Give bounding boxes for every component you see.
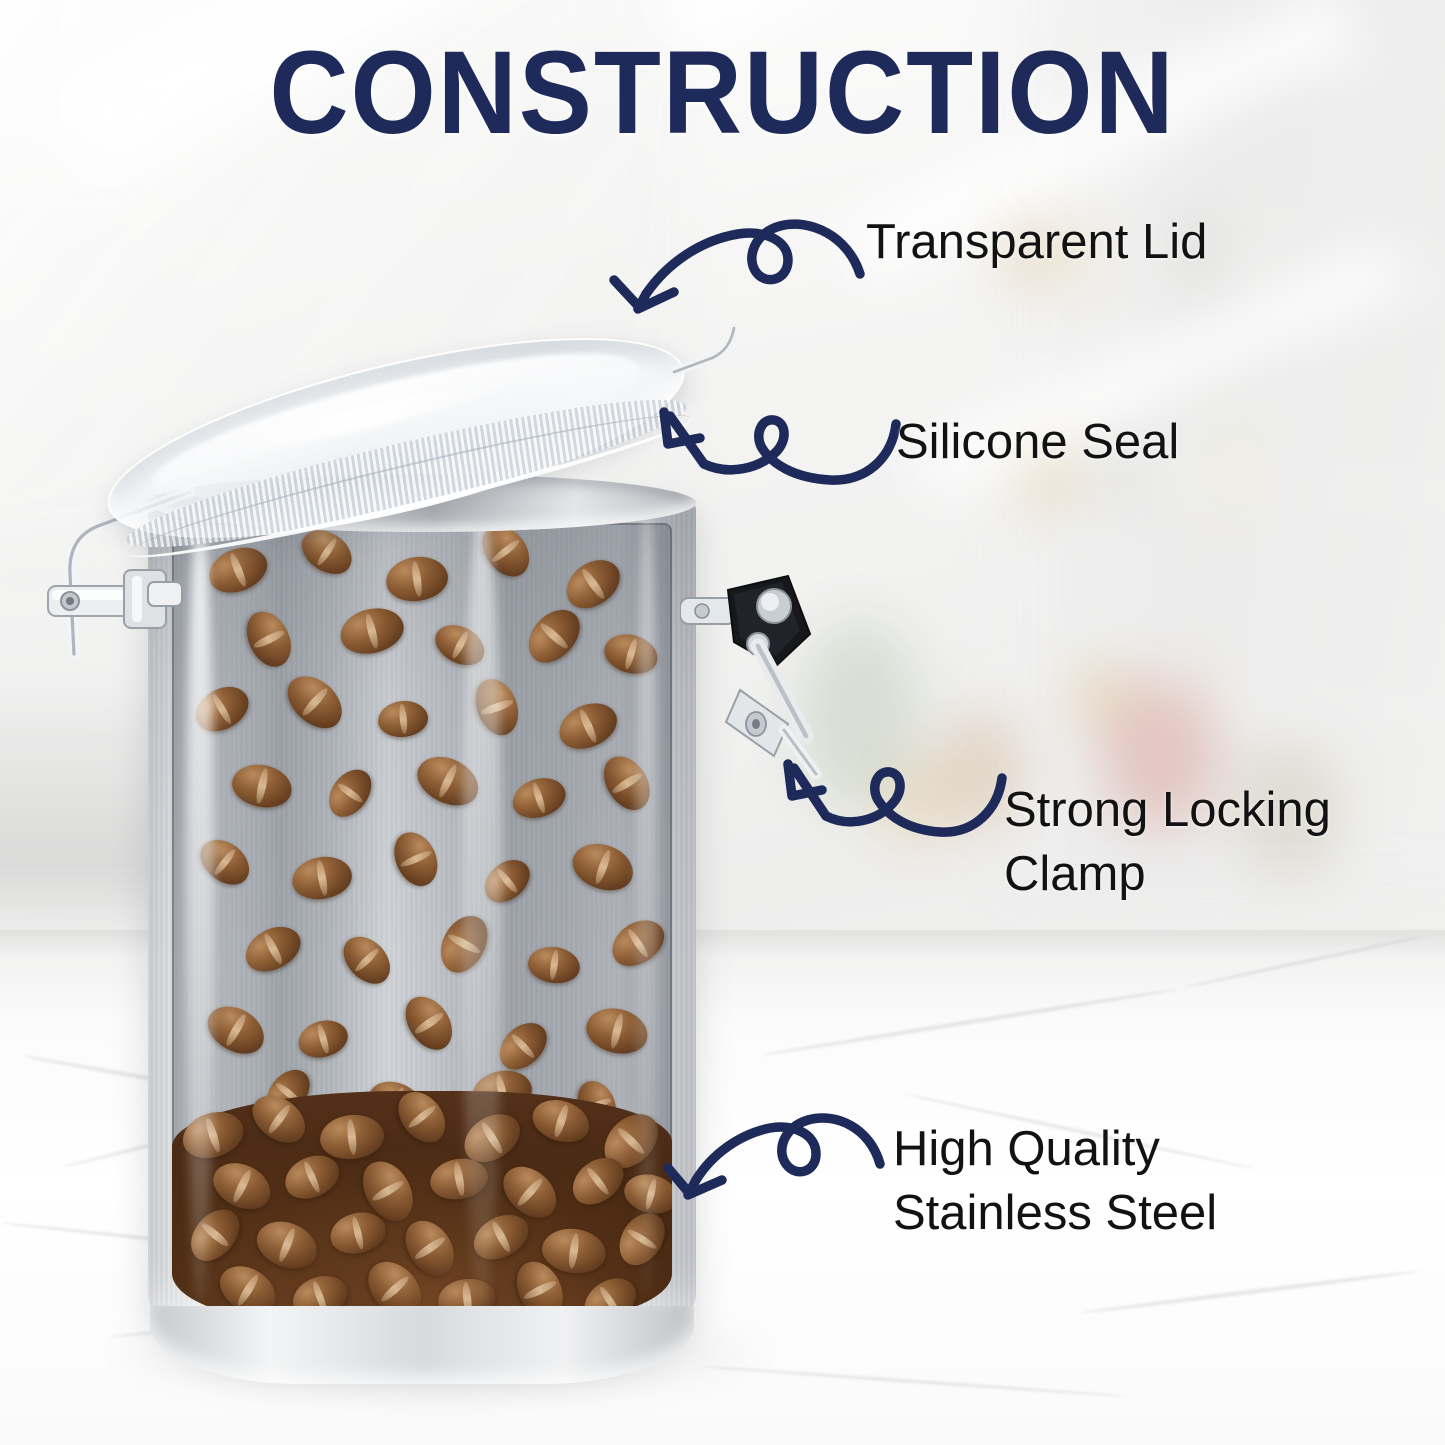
coffee-bean: [518, 600, 589, 673]
coffee-bean: [507, 772, 570, 825]
coffee-bean: [566, 836, 639, 899]
coffee-bean: [320, 761, 380, 824]
coffee-bean: [383, 553, 451, 605]
curved-arrow-down-left-icon: [656, 1106, 888, 1206]
coffee-bean: [389, 1083, 455, 1152]
coffee-bean: [278, 666, 352, 739]
coffee-bean: [376, 698, 429, 739]
coffee-bean: [238, 918, 308, 981]
coffee-bean: [294, 1015, 352, 1063]
curved-arrow-down-left-icon: [598, 212, 868, 324]
infographic-canvas: CONSTRUCTION Transparent Lid Silicone Se…: [0, 0, 1445, 1445]
callout-label-transparent-lid: Transparent Lid: [866, 211, 1207, 275]
page-title: CONSTRUCTION: [51, 34, 1395, 152]
coffee-bean: [228, 759, 295, 813]
coffee-bean: [289, 852, 355, 904]
canister-base: [150, 1306, 694, 1384]
coffee-bean: [335, 927, 400, 992]
stainless-steel-body: [148, 497, 696, 1352]
body-highlight: [462, 506, 502, 1306]
callout-label-silicone-seal: Silicone Seal: [896, 411, 1179, 475]
body-highlight: [636, 506, 658, 1296]
canister-view-window: [172, 523, 672, 1323]
coffee-bean: [318, 1112, 386, 1162]
curved-arrow-up-left-icon: [778, 752, 1008, 848]
coffee-bean: [238, 604, 299, 674]
callout-label-locking-clamp: Strong Locking Clamp: [1004, 779, 1331, 906]
coffee-bean: [250, 1213, 324, 1277]
coffee-bean-pile: [172, 1091, 672, 1323]
coffee-bean: [526, 944, 583, 987]
lid-dome-body: [91, 297, 701, 579]
coffee-bean: [527, 1093, 595, 1149]
coffee-bean: [552, 695, 624, 758]
coffee-bean: [386, 825, 445, 892]
curved-arrow-up-left-icon: [652, 400, 902, 496]
coffee-bean: [557, 550, 629, 618]
coffee-bean: [206, 1154, 278, 1218]
coffee-bean: [244, 1086, 314, 1152]
callout-label-stainless-steel: High Quality Stainless Steel: [893, 1118, 1217, 1245]
coffee-bean: [336, 602, 409, 660]
coffee-bean: [396, 988, 462, 1058]
lid-hook-icon: [672, 322, 756, 384]
